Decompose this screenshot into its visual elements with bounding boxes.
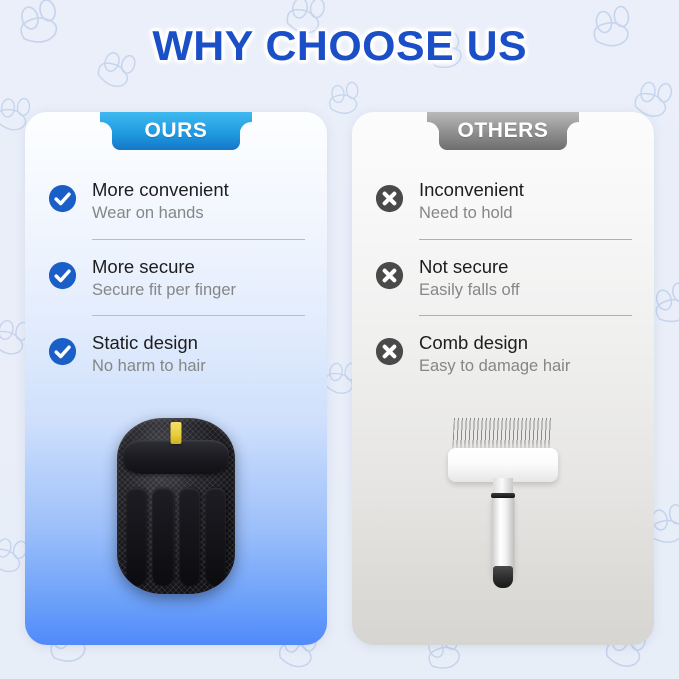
feature-title: Static design [92, 331, 305, 354]
x-circle-icon [374, 260, 405, 291]
feature-title: More secure [92, 255, 305, 278]
slicker-brush-graphic [448, 410, 558, 600]
page-title-wrap: WHY CHOOSE US [0, 22, 679, 70]
feature-subtitle: Easy to damage hair [419, 356, 632, 377]
check-circle-icon [47, 336, 78, 367]
feature-title: Inconvenient [419, 178, 632, 201]
brush-band [491, 493, 515, 498]
feature-subtitle: Need to hold [419, 203, 632, 224]
feature-divider [419, 239, 632, 240]
feature-item: More secure Secure fit per finger [47, 249, 305, 307]
check-circle-icon [47, 260, 78, 291]
comparison-card-others: OTHERS Inconvenient Need to hold Not sec… [352, 112, 654, 645]
feature-item: Not secure Easily falls off [374, 249, 632, 307]
feature-title: Not secure [419, 255, 632, 278]
feature-subtitle: Wear on hands [92, 203, 305, 224]
feature-divider [419, 315, 632, 316]
feature-list-others: Inconvenient Need to hold Not secure Eas… [352, 172, 654, 383]
glove-top-band [123, 440, 229, 474]
glove-body [117, 418, 235, 594]
brush-tip [493, 566, 513, 588]
feature-subtitle: Secure fit per finger [92, 280, 305, 301]
glove-finger-pockets [126, 488, 226, 586]
banner-label-others: OTHERS [457, 119, 548, 143]
glove-yellow-tab [171, 422, 182, 444]
feature-title: Comb design [419, 331, 632, 354]
glove-finger [152, 488, 173, 586]
glove-finger [179, 488, 200, 586]
check-circle-icon [47, 183, 78, 214]
feature-subtitle: Easily falls off [419, 280, 632, 301]
feature-title: More convenient [92, 178, 305, 201]
x-circle-icon [374, 183, 405, 214]
feature-text: Static design No harm to hair [92, 331, 305, 378]
comparison-card-ours: OURS More convenient Wear on hands More … [25, 112, 327, 645]
card-banner-ours: OURS [100, 112, 252, 150]
page-title: WHY CHOOSE US [152, 22, 527, 70]
feature-text: Not secure Easily falls off [419, 255, 632, 302]
product-image-grooming-glove [25, 400, 327, 645]
feature-text: Comb design Easy to damage hair [419, 331, 632, 378]
feature-text: More convenient Wear on hands [92, 178, 305, 225]
brush-pins [452, 418, 554, 452]
feature-text: More secure Secure fit per finger [92, 255, 305, 302]
product-image-slicker-brush [352, 400, 654, 645]
brush-head [448, 448, 558, 482]
comparison-cards: OURS More convenient Wear on hands More … [0, 112, 679, 657]
feature-item: More convenient Wear on hands [47, 172, 305, 230]
card-banner-others: OTHERS [427, 112, 579, 150]
feature-divider [92, 315, 305, 316]
feature-subtitle: No harm to hair [92, 356, 305, 377]
feature-item: Inconvenient Need to hold [374, 172, 632, 230]
feature-item: Comb design Easy to damage hair [374, 325, 632, 383]
grooming-glove-graphic [117, 418, 235, 594]
feature-text: Inconvenient Need to hold [419, 178, 632, 225]
banner-label-ours: OURS [144, 119, 207, 143]
x-circle-icon [374, 336, 405, 367]
feature-list-ours: More convenient Wear on hands More secur… [25, 172, 327, 383]
glove-finger [126, 488, 147, 586]
glove-finger [205, 488, 226, 586]
feature-divider [92, 239, 305, 240]
feature-item: Static design No harm to hair [47, 325, 305, 383]
